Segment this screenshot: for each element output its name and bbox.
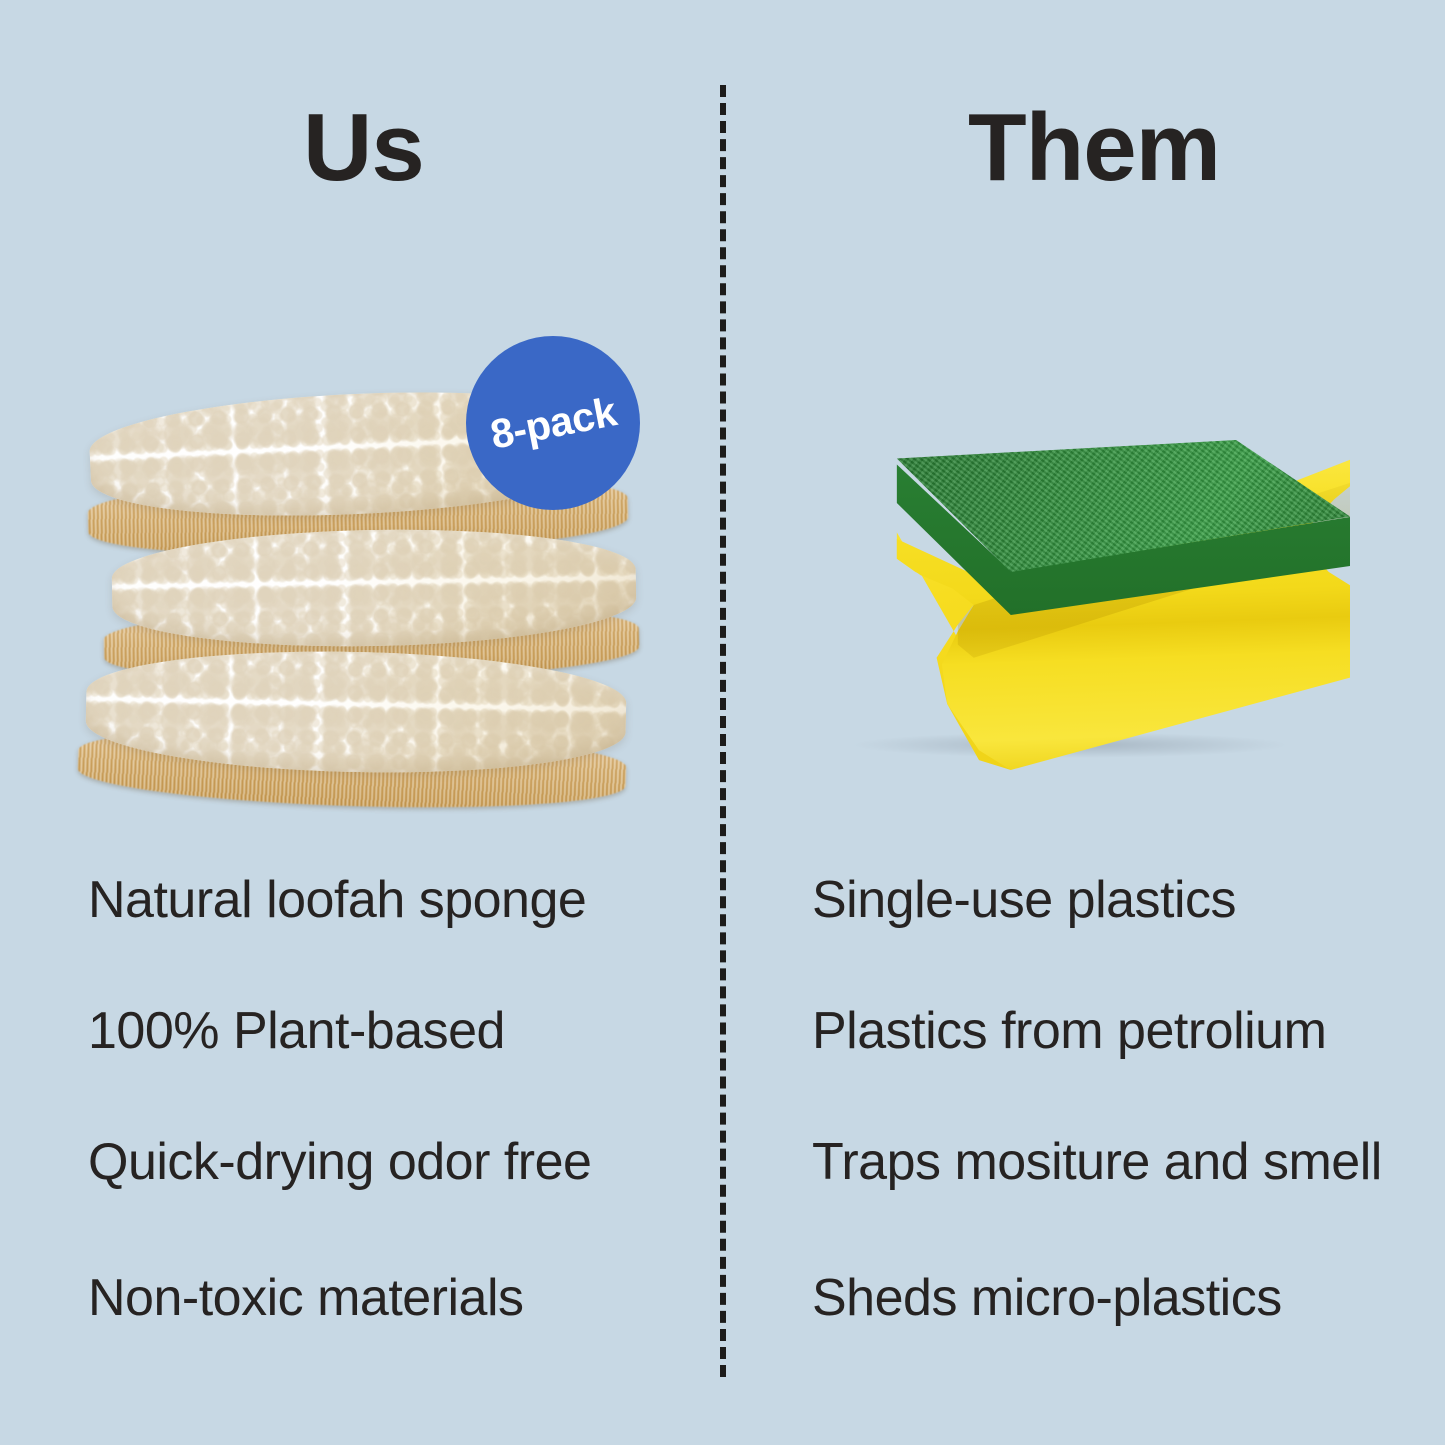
plastic-scouring-sponge-image bbox=[820, 440, 1350, 770]
column-divider bbox=[720, 85, 726, 1377]
pack-count-badge: 8-pack bbox=[466, 336, 640, 510]
comparison-infographic: Us Them 8-pack Natural loofah sponge 100… bbox=[0, 0, 1445, 1445]
feature-left-3: Quick-drying odor free bbox=[88, 1136, 591, 1188]
feature-left-1: Natural loofah sponge bbox=[88, 874, 586, 926]
column-heading-them: Them bbox=[968, 100, 1220, 196]
pack-count-badge-label: 8-pack bbox=[486, 388, 620, 458]
feature-left-4: Non-toxic materials bbox=[88, 1272, 524, 1324]
feature-right-3: Traps mositure and smell bbox=[812, 1136, 1382, 1188]
feature-right-2: Plastics from petrolium bbox=[812, 1005, 1326, 1057]
feature-right-4: Sheds micro-plastics bbox=[812, 1272, 1282, 1324]
feature-left-2: 100% Plant-based bbox=[88, 1005, 505, 1057]
column-heading-us: Us bbox=[303, 100, 424, 196]
feature-right-1: Single-use plastics bbox=[812, 874, 1236, 926]
